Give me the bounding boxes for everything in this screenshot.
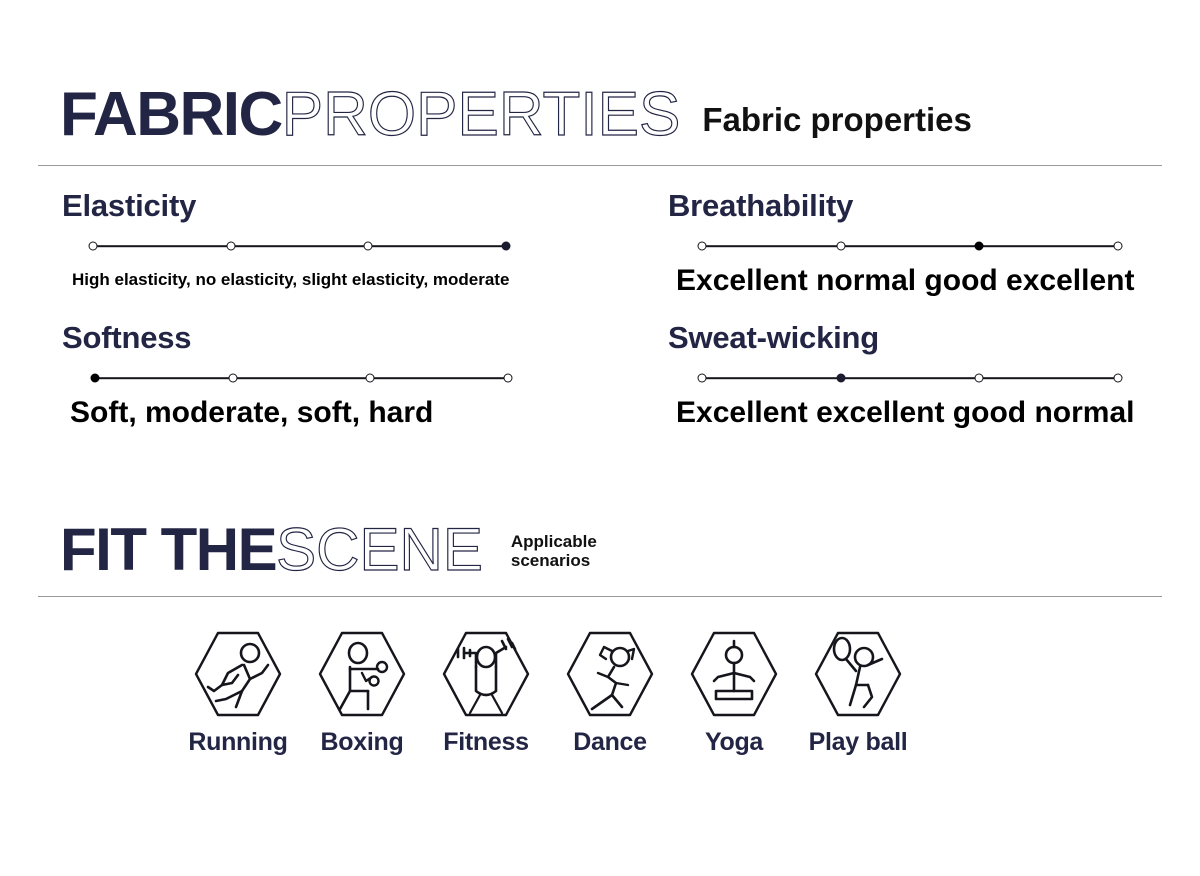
play-ball-icon bbox=[810, 628, 906, 720]
fabric-properties-header: FABRIC PROPERTIES Fabric properties bbox=[60, 90, 972, 141]
property-title: Breathability bbox=[668, 190, 1168, 221]
property-title: Elasticity bbox=[62, 190, 522, 221]
slider-dot-2[interactable] bbox=[226, 242, 235, 251]
property-elasticity: Elasticity High elasticity, no elasticit… bbox=[62, 190, 522, 290]
header-subtitle: Applicable scenarios bbox=[511, 532, 597, 570]
slider-dot-3[interactable] bbox=[975, 374, 984, 383]
property-softness: Softness Soft, moderate, soft, hard bbox=[62, 322, 522, 429]
fitness-icon bbox=[438, 628, 534, 720]
fit-the-scene-header: FIT THE SCENE Applicable scenarios bbox=[60, 525, 597, 574]
scenario-item-running[interactable]: Running bbox=[176, 628, 300, 755]
header-divider-2 bbox=[38, 596, 1162, 597]
header-title-bold: FIT THE bbox=[60, 525, 276, 574]
property-title: Sweat-wicking bbox=[668, 322, 1168, 353]
header-divider-1 bbox=[38, 165, 1162, 166]
header-title-thin: SCENE bbox=[276, 525, 483, 574]
slider-dot-2[interactable] bbox=[836, 374, 845, 383]
scenario-item-play-ball[interactable]: Play ball bbox=[796, 628, 920, 755]
scenario-label: Dance bbox=[573, 730, 647, 755]
slider-track bbox=[95, 377, 508, 379]
slider-dot-3[interactable] bbox=[366, 374, 375, 383]
slider-track bbox=[702, 245, 1118, 247]
header-subtitle-line2: scenarios bbox=[511, 551, 590, 570]
slider-dot-2[interactable] bbox=[836, 242, 845, 251]
elasticity-slider[interactable] bbox=[93, 238, 506, 254]
breathability-slider[interactable] bbox=[702, 238, 1118, 254]
header-subtitle: Fabric properties bbox=[702, 103, 972, 136]
scenario-item-yoga[interactable]: Yoga bbox=[672, 628, 796, 755]
scenario-item-boxing[interactable]: Boxing bbox=[300, 628, 424, 755]
slider-dot-4[interactable] bbox=[1114, 374, 1123, 383]
scenario-label: Fitness bbox=[443, 730, 528, 755]
dance-icon bbox=[562, 628, 658, 720]
slider-dot-4[interactable] bbox=[504, 374, 513, 383]
scenario-label: Yoga bbox=[705, 730, 763, 755]
property-breathability: Breathability Excellent normal good exce… bbox=[668, 190, 1168, 297]
slider-track bbox=[93, 245, 506, 247]
scenario-label: Boxing bbox=[321, 730, 404, 755]
header-subtitle-line1: Applicable bbox=[511, 532, 597, 551]
yoga-icon bbox=[686, 628, 782, 720]
slider-dot-1[interactable] bbox=[89, 242, 98, 251]
scenario-list: Running Boxing bbox=[176, 628, 920, 755]
scenario-item-fitness[interactable]: Fitness bbox=[424, 628, 548, 755]
property-sweat-wicking: Sweat-wicking Excellent excellent good n… bbox=[668, 322, 1168, 429]
header-title-bold: FABRIC bbox=[60, 90, 282, 141]
property-title: Softness bbox=[62, 322, 522, 353]
slider-dot-1[interactable] bbox=[698, 242, 707, 251]
slider-dot-3[interactable] bbox=[364, 242, 373, 251]
slider-track bbox=[702, 377, 1118, 379]
slider-dot-3[interactable] bbox=[975, 242, 984, 251]
softness-slider[interactable] bbox=[95, 370, 508, 386]
sweat-wicking-slider[interactable] bbox=[702, 370, 1118, 386]
running-icon bbox=[190, 628, 286, 720]
scenario-label: Play ball bbox=[809, 730, 908, 755]
property-caption: Excellent normal good excellent bbox=[676, 264, 1168, 297]
property-caption: Soft, moderate, soft, hard bbox=[70, 396, 522, 429]
infographic-page: FABRIC PROPERTIES Fabric properties Elas… bbox=[0, 0, 1200, 876]
slider-dot-1[interactable] bbox=[698, 374, 707, 383]
scenario-item-dance[interactable]: Dance bbox=[548, 628, 672, 755]
scenario-label: Running bbox=[188, 730, 287, 755]
property-caption: Excellent excellent good normal bbox=[676, 396, 1168, 429]
slider-dot-2[interactable] bbox=[228, 374, 237, 383]
slider-dot-4[interactable] bbox=[1114, 242, 1123, 251]
boxing-icon bbox=[314, 628, 410, 720]
header-title-thin: PROPERTIES bbox=[282, 90, 681, 141]
slider-dot-4[interactable] bbox=[502, 242, 511, 251]
property-caption: High elasticity, no elasticity, slight e… bbox=[72, 271, 522, 290]
slider-dot-1[interactable] bbox=[91, 374, 100, 383]
